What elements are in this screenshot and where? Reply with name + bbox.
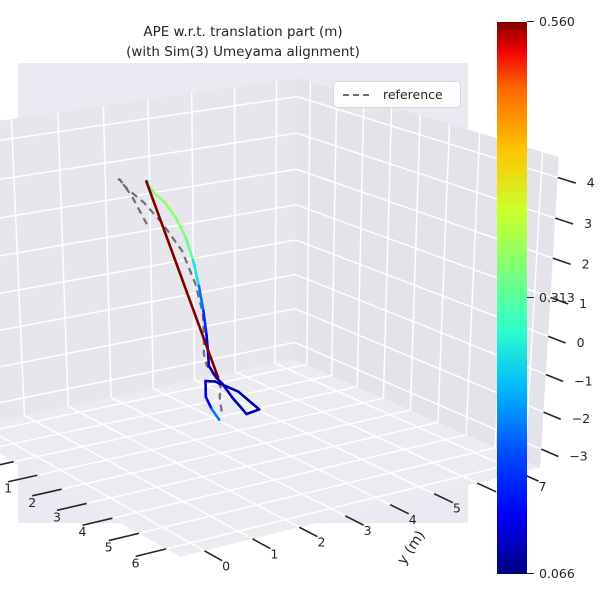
axis-tick-mark (544, 412, 561, 419)
axis-tick-label-y-1: 1 (270, 547, 278, 562)
colorbar-tick-dash (527, 21, 534, 23)
figure-canvas: APE w.r.t. translation part (m) (with Si… (0, 0, 600, 600)
colorbar-tick-mid: 0.313 (527, 290, 575, 305)
colorbar-tick-dash (527, 297, 534, 299)
legend[interactable]: reference (333, 81, 461, 108)
axis-tick-label-z--1: −1 (574, 373, 592, 388)
axis-tick-label-x-5: 5 (105, 540, 113, 555)
axis-tick-label-z-3: 3 (584, 216, 592, 231)
axis-tick-label-y-0: 0 (222, 559, 230, 574)
axis-tick-label-x-2: 2 (28, 495, 36, 510)
axis-tick-mark (136, 549, 166, 556)
axis-tick-label-y-2: 2 (318, 535, 326, 550)
axis-tick-mark (252, 539, 270, 549)
axis-tick-mark (558, 178, 576, 184)
axis-tick-label-x-4: 4 (78, 524, 86, 539)
legend-item-reference: reference (383, 87, 443, 102)
colorbar-tick-min: 0.066 (527, 566, 575, 581)
colorbar-tick-max: 0.560 (527, 14, 575, 29)
colorbar-tick-label-max: 0.560 (539, 14, 575, 29)
axis-tick-mark (477, 483, 496, 492)
legend-dashed-line-icon (343, 94, 373, 96)
colorbar-tick-label-mid: 0.313 (539, 290, 575, 305)
colorbar[interactable]: 0.560 0.313 0.066 (497, 22, 527, 574)
axis-tick-label-z--3: −3 (569, 449, 587, 464)
axis-tick-label-x-3: 3 (53, 509, 61, 524)
axis-tick-label-z-4: 4 (587, 175, 595, 190)
axis-tick-label-x-6: 6 (132, 555, 140, 570)
colorbar-tick-label-min: 0.066 (539, 566, 575, 581)
axis-tick-label-x-1: 1 (4, 481, 12, 496)
axis-tick-mark (546, 374, 563, 381)
axis-tick-label-y-7: 7 (539, 479, 547, 494)
axis-tick-mark (541, 449, 558, 456)
axis-tick-label-z-1: 1 (579, 296, 587, 311)
axes-panes (0, 78, 559, 557)
axis-tick-label-z-2: 2 (582, 256, 590, 271)
axis-tick-mark (548, 336, 565, 343)
axis-tick-label-y-3: 3 (364, 523, 372, 538)
axis-tick-mark (553, 258, 571, 264)
axis-tick-mark (109, 533, 139, 540)
axis-tick-label-y-5: 5 (453, 501, 461, 516)
axis-tick-label-y-4: 4 (409, 512, 417, 527)
axis-tick-label-z-0: 0 (577, 335, 585, 350)
axis-tick-mark (555, 218, 573, 224)
axis-tick-mark (299, 527, 317, 536)
colorbar-gradient (497, 22, 527, 574)
axis-label-y: y (m) (394, 528, 428, 568)
colorbar-tick-dash (527, 573, 534, 575)
axis-tick-mark (0, 462, 14, 468)
axis-tick-mark (204, 551, 222, 561)
axis-tick-label-z--2: −2 (572, 411, 590, 426)
